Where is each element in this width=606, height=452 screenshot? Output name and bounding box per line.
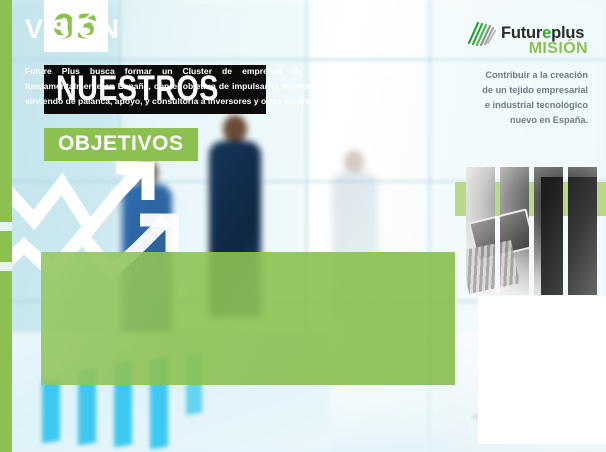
brand-name-part1: Futur [501, 24, 542, 42]
photo-strip [466, 167, 495, 295]
photo-strip [568, 167, 597, 295]
mision-card [478, 296, 606, 444]
fan-swoosh-logo-icon [466, 20, 496, 46]
vision-heading: VISIÓN [25, 14, 120, 45]
photo-strip [500, 167, 529, 295]
mision-body-text: Contribuir a la creación de un tejido em… [478, 68, 588, 128]
window-mullion [0, 58, 606, 61]
brand-name-accent: e [542, 24, 551, 42]
photo-strip [534, 167, 563, 295]
mision-photo-strips [466, 167, 597, 295]
vision-body-text: Future Plus busca formar un Cluster de e… [25, 64, 391, 108]
vision-panel [41, 252, 455, 385]
title-secondary-box: OBJETIVOS [44, 128, 198, 161]
cyan-bar [42, 379, 60, 444]
title-secondary: OBJETIVOS [58, 132, 184, 155]
stripe-notch [0, 222, 12, 231]
stripe-notch [0, 262, 12, 271]
brand-logo[interactable]: Futureplus [466, 20, 584, 46]
slide-canvas: 03 NUESTROS OBJETIVOS VISIÓN Future Plus… [0, 0, 606, 452]
brand-name-part2: plus [551, 24, 584, 42]
brand-wordmark: Futureplus [501, 24, 584, 43]
